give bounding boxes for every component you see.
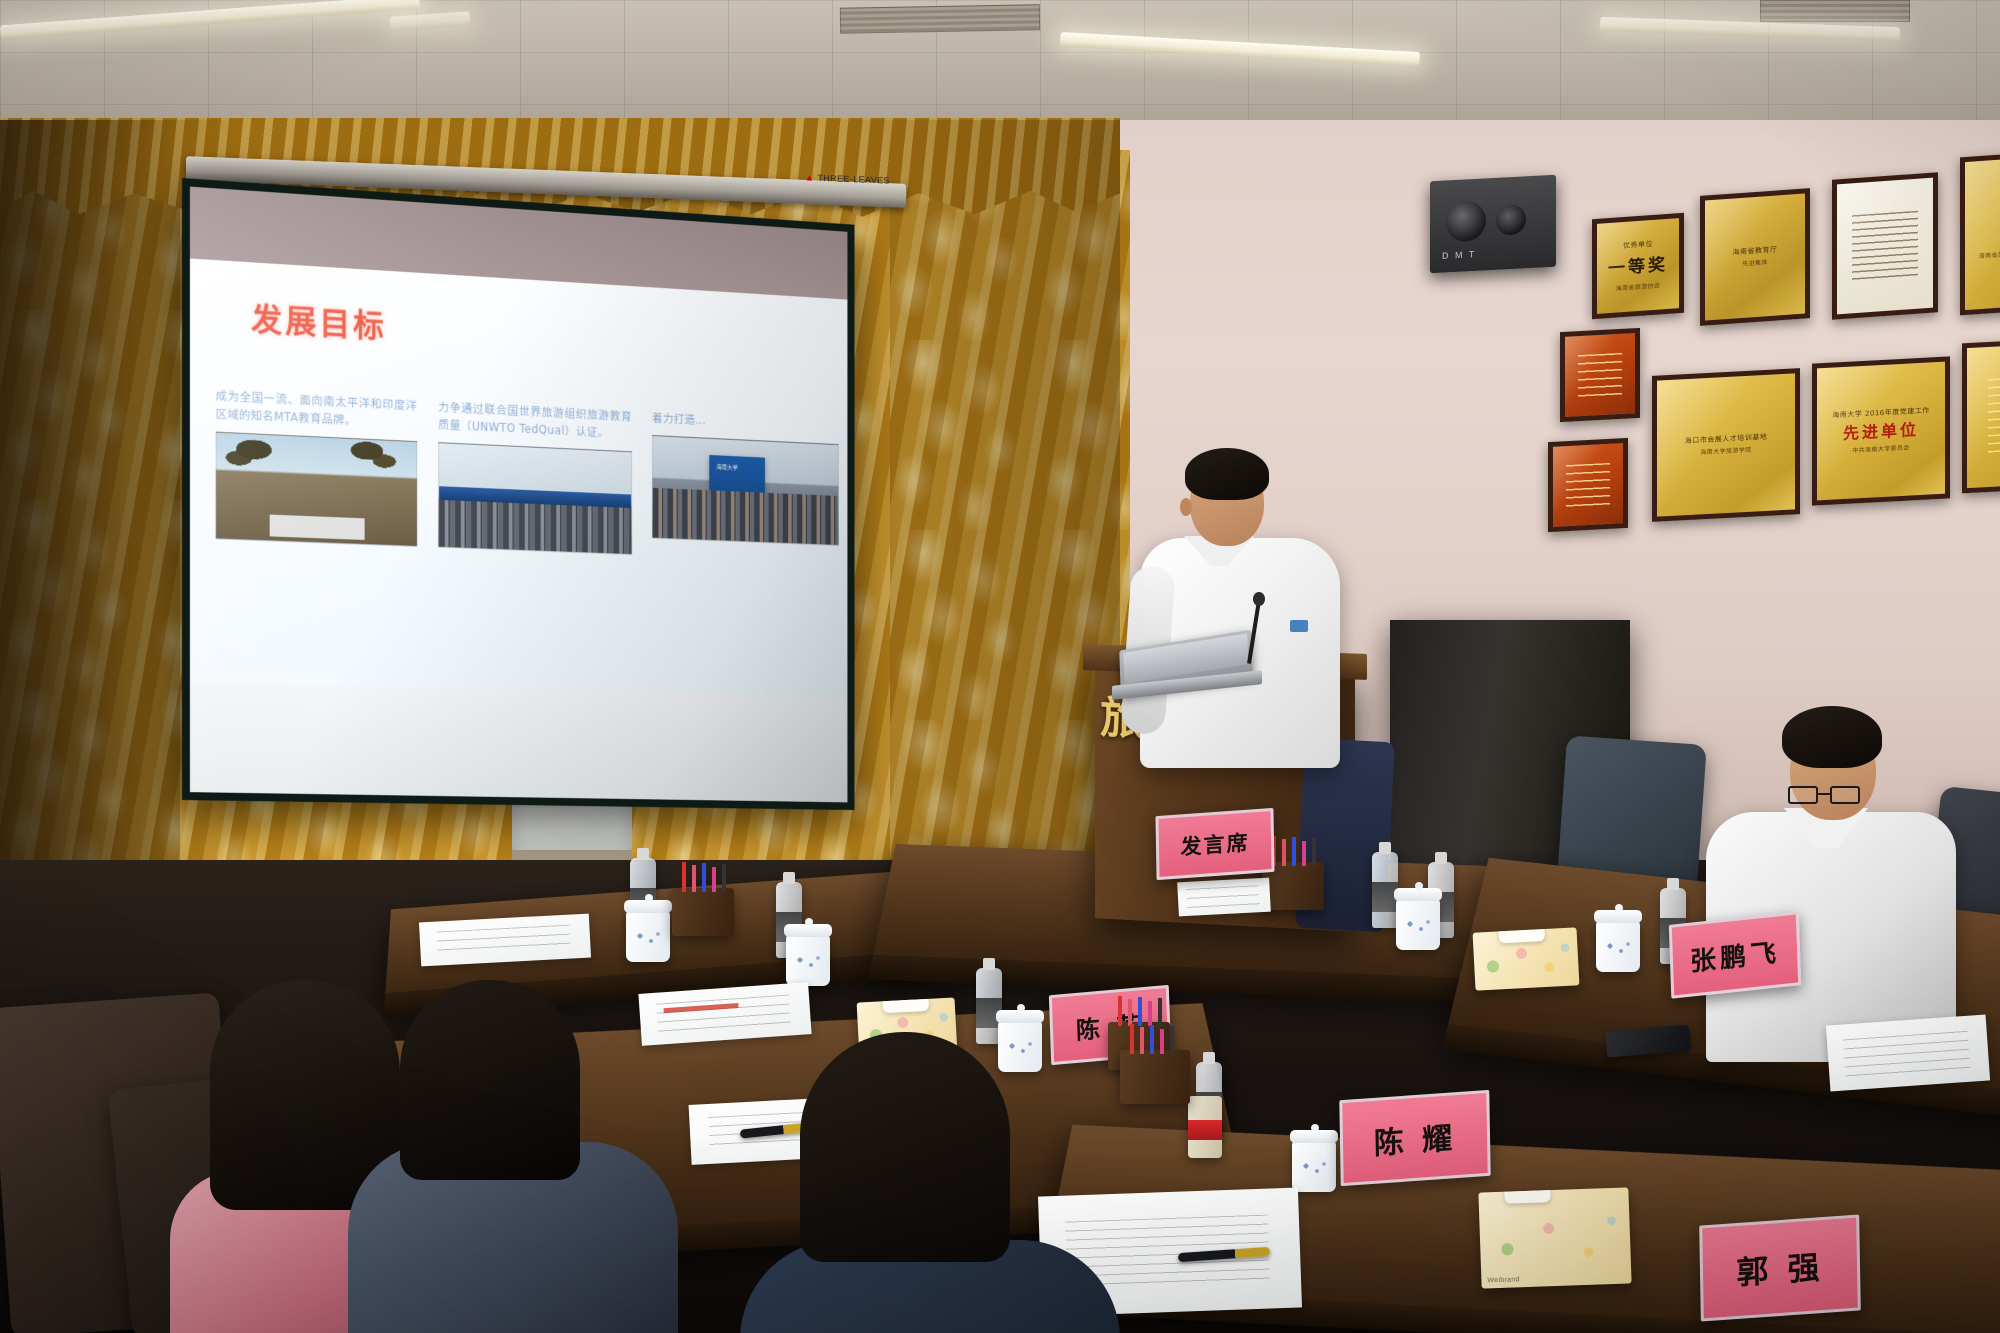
photo-crowd — [653, 488, 838, 545]
plaque-lines — [1578, 353, 1621, 397]
slide-column: 力争通过联合国世界旅游组织旅游教育质量（UNWTO TedQual）认证。 — [438, 399, 632, 555]
plaque-lines — [1988, 375, 2000, 456]
plaque-award: 一等奖 — [1608, 250, 1668, 279]
slide-column-text: 着力打造… — [652, 410, 839, 436]
plaque-sub: 先进集体 — [1742, 257, 1768, 268]
presenter-hair — [1185, 448, 1269, 500]
slide-column-text: 力争通过联合国世界旅游组织旅游教育质量（UNWTO TedQual）认证。 — [438, 399, 632, 443]
slide-column: 着力打造… 海南大学 MTA — [652, 410, 839, 562]
slide-title: 发展目标 — [251, 294, 823, 372]
tea-cup — [1396, 898, 1440, 950]
tea-cup — [1292, 1140, 1336, 1192]
eyeglasses-icon — [1786, 786, 1878, 806]
projection-screen-frame: 发展目标 成为全国一流、面向南太平洋和印度洋区域的知名MTA教育品牌。 力争通过… — [182, 178, 854, 810]
plaque-title: 优秀单位 — [1623, 240, 1653, 251]
university-name: 海南大学 — [716, 462, 738, 472]
slide-column: 成为全国一流、面向南太平洋和印度洋区域的知名MTA教育品牌。 — [216, 388, 418, 547]
document-paper — [1826, 1014, 1990, 1091]
wall-plaque: 海南省教育厅先进集体 — [1700, 188, 1810, 326]
attendee-hair — [1782, 706, 1882, 768]
nameplate-chen-yao: 陈 耀 — [1339, 1090, 1490, 1186]
tissue-brand-label: Weibrand — [1487, 1276, 1519, 1284]
nameplate-speaker-seat: 发言席 — [1155, 808, 1274, 880]
tea-cup — [1596, 920, 1640, 972]
slide-columns: 成为全国一流、面向南太平洋和印度洋区域的知名MTA教育品牌。 力争通过联合国世界… — [216, 388, 839, 563]
pens-icon — [678, 862, 730, 892]
wall-plaque-certificate — [1832, 172, 1938, 319]
microphone-head-icon — [1253, 592, 1265, 606]
photo-crowd — [439, 499, 631, 553]
tissue-box — [1473, 927, 1580, 990]
tea-cup — [626, 910, 670, 962]
plaque-title: 海南省教育厅 — [1733, 246, 1778, 258]
plaque-award: 先进单位 — [1843, 416, 1919, 444]
pens-icon — [1126, 1024, 1178, 1054]
ceiling-vent — [1760, 0, 1910, 22]
plaque-lines — [1566, 463, 1609, 507]
presenter-shirt-logo — [1290, 620, 1308, 632]
presenter-ear — [1180, 498, 1192, 516]
document-paper — [419, 914, 591, 967]
pens-icon — [1114, 996, 1166, 1026]
plaque-sub: 中共海南大学委员会 — [1852, 442, 1910, 454]
slide-photo-mta-banner: 海南大学 MTA — [652, 435, 839, 546]
wall-plaque — [1962, 337, 2000, 494]
wall-plaque: 优秀单位一等奖海南省旅游协会 — [1592, 213, 1684, 319]
slide-bottom-area — [190, 682, 848, 802]
pen-holder — [1120, 1050, 1190, 1104]
ceiling-vent — [840, 4, 1040, 33]
attendee-hair — [400, 980, 580, 1180]
beverage-can — [1188, 1096, 1222, 1158]
wall-plaque-advanced-unit: 海南大学 2016年度党建工作先进单位中共海南大学委员会 — [1812, 356, 1950, 505]
photo-banner — [269, 514, 365, 540]
wall-plaque-red — [1548, 438, 1628, 532]
conference-room-photo: ▲THREE-LEAVES 发展目标 成为全国一流、面向南太平洋和印度洋区域的知… — [0, 0, 2000, 1333]
pen-holder — [672, 888, 734, 936]
tea-cup — [786, 934, 830, 986]
certificate-lines — [1852, 211, 1917, 281]
plaque-title: 海口市会展人才培训基地 — [1685, 433, 1768, 446]
speaker-brand-label: D M T — [1442, 249, 1476, 261]
plaque-sub: 海南省旅游协会 — [1616, 281, 1661, 293]
tissue-box: Weibrand — [1478, 1187, 1631, 1288]
speaker-tweeter-icon — [1496, 204, 1526, 236]
slide-photo-conference-hall — [438, 442, 632, 555]
plaque-sub: 海南省旅游发展委员会 二〇一六年十一月 — [1979, 243, 2000, 260]
wall-plaque-first-prize: 海南省第三届旅游院校一等奖海南省旅游发展委员会 二〇一六年十一月 — [1960, 147, 2000, 316]
wall-plaque-training-base: 海口市会展人才培训基地海南大学旅游学院 — [1652, 368, 1800, 522]
speaker-cone-icon — [1446, 200, 1486, 242]
wall-plaque-red — [1560, 328, 1640, 422]
brand-triangle-icon: ▲ — [805, 172, 814, 182]
wall-shadow — [0, 120, 180, 880]
nameplate-zhang-pengfei: 张鹏飞 — [1669, 911, 1802, 998]
slide-column-text: 成为全国一流、面向南太平洋和印度洋区域的知名MTA教育品牌。 — [216, 388, 418, 433]
slide-photo-palm-trees — [216, 431, 418, 546]
attendee-hair — [800, 1032, 1010, 1262]
projection-screen: 发展目标 成为全国一流、面向南太平洋和印度洋区域的知名MTA教育品牌。 力争通过… — [190, 187, 848, 803]
tea-cup — [998, 1020, 1042, 1072]
presentation-slide: 发展目标 成为全国一流、面向南太平洋和印度洋区域的知名MTA教育品牌。 力争通过… — [190, 258, 848, 698]
pens-icon — [1268, 836, 1320, 866]
plaque-sub: 海南大学旅游学院 — [1700, 445, 1751, 457]
nameplate-guo-qiang: 郭 强 — [1699, 1214, 1861, 1321]
document-paper — [1177, 878, 1271, 917]
